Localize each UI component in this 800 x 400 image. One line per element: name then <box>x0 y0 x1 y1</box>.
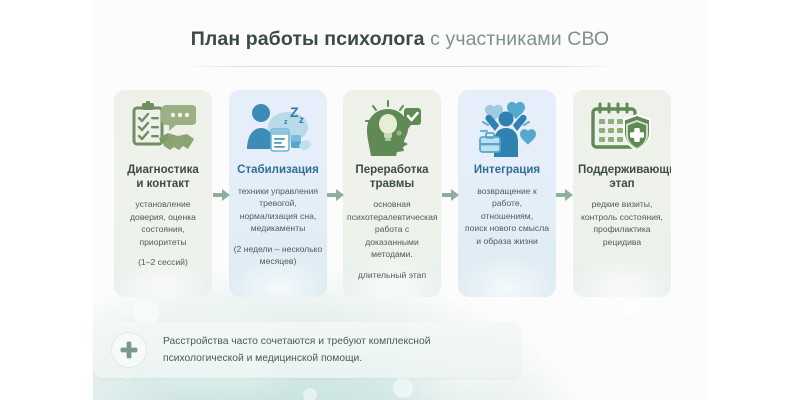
svg-text:Z: Z <box>290 104 299 120</box>
step-title: Интеграция <box>460 164 554 178</box>
person-arms-up-hearts-briefcase-icon <box>460 98 554 160</box>
bokeh-dot <box>393 378 413 398</box>
page-title: План работы психолога с участниками СВО <box>93 28 707 51</box>
step-note: длительный этап <box>345 269 439 282</box>
medical-cross-icon <box>111 332 147 368</box>
step-title: Переработкатравмы <box>345 164 439 191</box>
arrow-right-icon <box>556 188 573 200</box>
svg-text:z: z <box>299 115 304 126</box>
arrow-right-icon <box>327 188 344 200</box>
footer-note-banner: Расстройства часто сочетаются и требуют … <box>93 322 521 378</box>
step-body: редкие визиты,контроль состояния,профила… <box>575 198 669 248</box>
step-note: (1–2 сессий) <box>116 256 210 269</box>
step-note: (2 недели – несколькомесяцев) <box>231 243 325 268</box>
step-title: Стабилизация <box>231 164 325 178</box>
page-title-bold: План работы психолога <box>191 28 425 50</box>
person-sleep-medication-icon: Z z z <box>231 98 325 160</box>
calendar-shield-cross-icon <box>575 98 669 160</box>
footer-note-line1: Расстройства часто сочетаются и требуют … <box>163 336 430 347</box>
bokeh-ring <box>653 350 685 382</box>
arrow-right-icon <box>442 188 459 200</box>
step-title: Диагностикаи контакт <box>116 164 210 191</box>
footer-note-line2: психологической и медицинской помощи. <box>163 353 362 364</box>
flow-arrows <box>114 188 686 200</box>
svg-text:z: z <box>284 119 288 126</box>
title-divider <box>178 66 622 67</box>
footer-note-text: Расстройства часто сочетаются и требуют … <box>163 333 430 367</box>
bokeh-dot <box>623 300 639 316</box>
step-body: установлениедоверия, оценкасостояния, пр… <box>116 198 210 248</box>
arrow-right-icon <box>213 188 230 200</box>
page-title-light: с участниками СВО <box>430 28 609 50</box>
head-lightbulb-check-icon <box>345 98 439 160</box>
infographic-canvas: План работы психолога с участниками СВО <box>0 0 800 400</box>
clipboard-checklist-handshake-icon <box>116 98 210 160</box>
step-body: основнаяпсихотералевтическаяработа с док… <box>345 198 439 261</box>
bokeh-dot <box>303 388 317 400</box>
step-title: Поддерживающийэтап <box>575 164 669 191</box>
